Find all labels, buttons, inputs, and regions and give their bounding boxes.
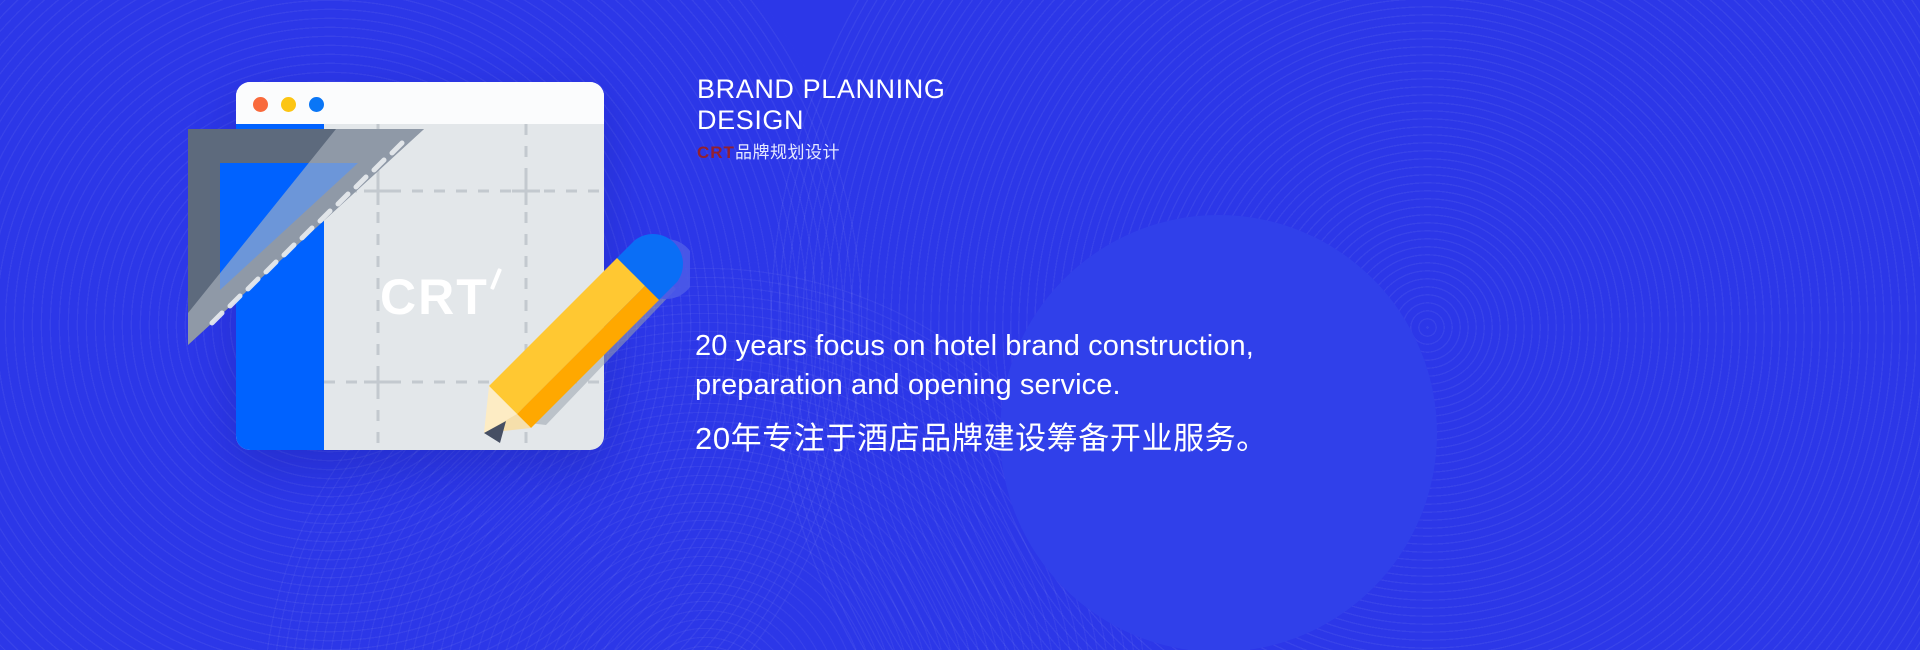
headline-chinese: 品牌规划设计 — [735, 143, 840, 162]
headline-brand-mark: CRT — [697, 143, 735, 162]
browser-titlebar — [236, 82, 604, 124]
tagline-block: 20 years focus on hotel brand constructi… — [695, 327, 1455, 459]
tagline-english: 20 years focus on hotel brand constructi… — [695, 327, 1455, 404]
brand-banner: CRT — [0, 0, 1920, 650]
headline-english: BRAND PLANNING DESIGN — [697, 74, 1397, 136]
tagline-chinese: 20年专注于酒店品牌建设筹备开业服务。 — [695, 420, 1455, 459]
minimize-dot[interactable] — [281, 97, 296, 112]
close-dot[interactable] — [253, 97, 268, 112]
triangle-ruler-icon — [186, 127, 426, 347]
headline-chinese-line: CRT品牌规划设计 — [697, 143, 1397, 163]
pencil-icon — [470, 225, 690, 455]
headline-block: BRAND PLANNING DESIGN CRT品牌规划设计 — [697, 74, 1397, 163]
maximize-dot[interactable] — [309, 97, 324, 112]
